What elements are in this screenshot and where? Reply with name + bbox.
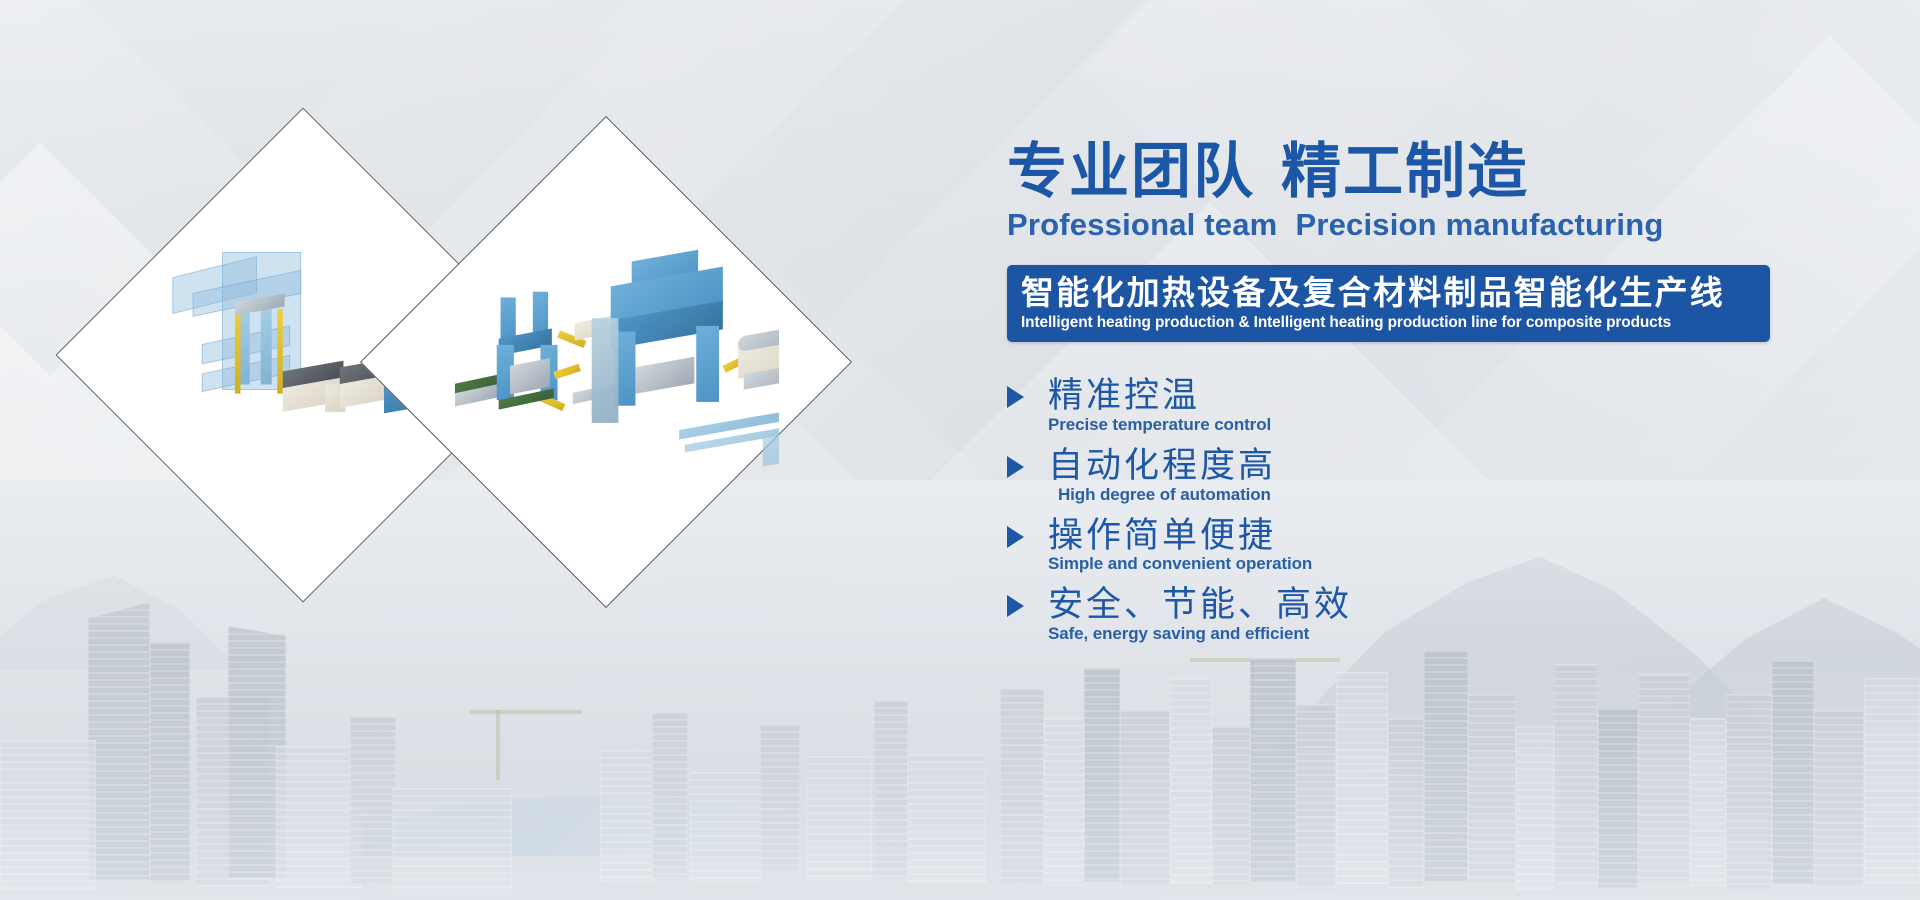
headline-en-part1: Professional team: [1007, 207, 1277, 242]
feature-label-cn: 安全、节能、高效: [1048, 585, 1352, 625]
headline-cn-part2: 精工制造: [1281, 138, 1529, 205]
product-image-tile-2[interactable]: [360, 116, 852, 608]
triangle-right-icon: [1007, 595, 1024, 617]
product-render-2: [433, 189, 779, 535]
triangle-right-icon: [1007, 526, 1024, 548]
highlight-bar: 智能化加热设备及复合材料制品智能化生产线 Intelligent heating…: [1007, 265, 1770, 342]
feature-label-en: Safe, energy saving and efficient: [1048, 624, 1352, 644]
feature-item: 自动化程度高 High degree of automation: [1007, 446, 1887, 505]
feature-item: 操作简单便捷 Simple and convenient operation: [1007, 516, 1887, 575]
triangle-right-icon: [1007, 456, 1024, 478]
headline-english: Professional teamPrecision manufacturing: [1007, 207, 1887, 243]
highlight-bar-english: Intelligent heating production & Intelli…: [1021, 314, 1756, 332]
banner-copy: 专业团队精工制造 Professional teamPrecision manu…: [1007, 140, 1887, 655]
promo-banner: 专业团队精工制造 Professional teamPrecision manu…: [0, 0, 1920, 900]
feature-label-cn: 操作简单便捷: [1048, 516, 1312, 556]
feature-label-en: Simple and convenient operation: [1048, 554, 1312, 574]
headline-en-part2: Precision manufacturing: [1295, 207, 1663, 242]
feature-item: 精准控温 Precise temperature control: [1007, 376, 1887, 435]
highlight-bar-chinese: 智能化加热设备及复合材料制品智能化生产线: [1021, 274, 1756, 313]
feature-list: 精准控温 Precise temperature control 自动化程度高 …: [1007, 376, 1887, 645]
feature-label-cn: 自动化程度高: [1048, 446, 1276, 486]
feature-label-en: Precise temperature control: [1048, 415, 1271, 435]
feature-label-cn: 精准控温: [1048, 376, 1271, 416]
headline-chinese: 专业团队精工制造: [1007, 140, 1887, 205]
headline-cn-part1: 专业团队: [1007, 138, 1255, 205]
feature-label-en: High degree of automation: [1048, 485, 1276, 505]
feature-item: 安全、节能、高效 Safe, energy saving and efficie…: [1007, 585, 1887, 644]
triangle-right-icon: [1007, 386, 1024, 408]
